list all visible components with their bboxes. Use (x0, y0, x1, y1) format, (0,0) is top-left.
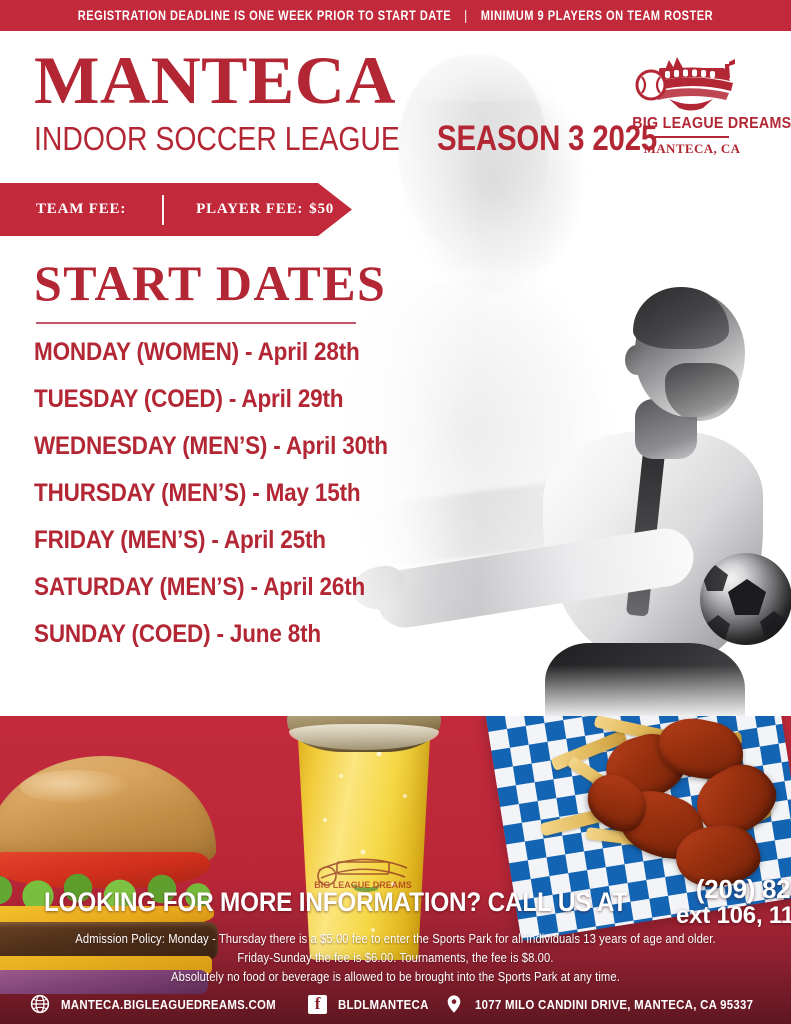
footer-website-text: MANTECA.BIGLEAGUEDREAMS.COM (61, 997, 276, 1012)
page-title: MANTECA (34, 48, 713, 113)
footer-facebook-text: BLDLMANTECA (338, 997, 429, 1012)
cta-label: LOOKING FOR MORE INFORMATION? CALL US AT (44, 887, 627, 918)
footer-address-item[interactable]: 1077 MILO CANDINI DRIVE, MANTECA, CA 953… (444, 994, 791, 1014)
banner-text: REGISTRATION DEADLINE IS ONE WEEK PRIOR … (78, 8, 713, 23)
start-dates-heading: START DATES (34, 258, 414, 308)
season-subtitle: SEASON 3 2025 (437, 119, 657, 159)
date-day-label: MONDAY (WOMEN) - (34, 338, 258, 366)
date-day-label: THURSDAY (MEN’S) - (34, 479, 266, 507)
start-date-row-monday: MONDAY (WOMEN) - April 28th (34, 340, 376, 365)
headline-block: MANTECA INDOOR SOCCER LEAGUE SEASON 3 20… (34, 48, 699, 159)
footer-website-item[interactable]: MANTECA.BIGLEAGUEDREAMS.COM (30, 994, 305, 1014)
date-value: May 15th (266, 479, 361, 507)
footer-facebook-item[interactable]: BLDLMANTECA (308, 995, 441, 1014)
phone-extensions: ext 106, 112, or 105 (676, 902, 791, 929)
banner-left-text: REGISTRATION DEADLINE IS ONE WEEK PRIOR … (78, 8, 451, 23)
start-date-row-friday: FRIDAY (MEN’S) - April 25th (34, 528, 376, 553)
team-fee-label: TEAM FEE: (36, 201, 126, 218)
fee-bar: TEAM FEE: PLAYER FEE: $50 (0, 183, 352, 236)
start-dates-section: START DATES MONDAY (WOMEN) - April 28th … (34, 258, 414, 669)
logo-divider (655, 136, 729, 138)
date-day-label: SUNDAY (COED) - (34, 620, 230, 648)
footer-address-text: 1077 MILO CANDINI DRIVE, MANTECA, CA 953… (475, 997, 753, 1012)
phone-number[interactable]: (209) 824-2400 (696, 874, 791, 904)
registration-banner: REGISTRATION DEADLINE IS ONE WEEK PRIOR … (0, 0, 791, 31)
date-day-label: WEDNESDAY (MEN’S) - (34, 432, 286, 460)
banner-right-text: MINIMUM 9 PLAYERS ON TEAM ROSTER (481, 8, 713, 23)
date-value: April 28th (258, 338, 360, 366)
logo-name: BIG LEAGUE DREAMS (632, 115, 752, 133)
soccer-player-figure (515, 291, 791, 721)
start-date-row-wednesday: WEDNESDAY (MEN’S) - April 30th (34, 434, 376, 459)
date-value: April 26th (263, 573, 365, 601)
cta-phone-block: (209) 824-2400 ext 106, 112, or 105 (676, 876, 791, 928)
policy-line-2: Friday-Sunday the fee is $6.00. Tourname… (40, 949, 752, 968)
date-value: April 29th (241, 385, 343, 413)
admission-policy: Admission Policy: Monday - Thursday ther… (0, 930, 791, 987)
flyer-page: REGISTRATION DEADLINE IS ONE WEEK PRIOR … (0, 0, 791, 1024)
globe-icon (30, 994, 50, 1014)
date-value: June 8th (230, 620, 321, 648)
start-date-row-sunday: SUNDAY (COED) - June 8th (34, 622, 376, 647)
date-day-label: SATURDAY (MEN’S) - (34, 573, 263, 601)
player-beard (665, 363, 739, 421)
stadium-baseball-icon (629, 52, 755, 112)
bun-highlight (20, 770, 130, 804)
start-date-row-tuesday: TUESDAY (COED) - April 29th (34, 387, 376, 412)
soccer-ball-icon (700, 553, 791, 645)
big-league-dreams-logo: BIG LEAGUE DREAMS MANTECA, CA (627, 52, 757, 157)
facebook-icon (308, 995, 327, 1014)
league-subtitle: INDOOR SOCCER LEAGUE (34, 120, 400, 158)
player-fee-label: PLAYER FEE: (196, 201, 303, 218)
player-shorts (545, 643, 745, 721)
location-pin-icon (444, 994, 464, 1014)
fee-divider (162, 195, 164, 225)
date-day-label: FRIDAY (MEN’S) - (34, 526, 224, 554)
date-value: April 30th (286, 432, 388, 460)
policy-line-1: Admission Policy: Monday - Thursday ther… (40, 930, 752, 949)
player-hair (633, 287, 729, 349)
ball-panel (728, 579, 766, 615)
player-fee-value: $50 (309, 201, 334, 218)
burger-bun (0, 756, 216, 866)
date-value: April 25th (224, 526, 326, 554)
subtitle-row: INDOOR SOCCER LEAGUE SEASON 3 2025 (34, 119, 699, 159)
start-date-row-thursday: THURSDAY (MEN’S) - May 15th (34, 481, 376, 506)
player-ear (625, 345, 649, 375)
call-to-action: LOOKING FOR MORE INFORMATION? CALL US AT… (0, 876, 791, 928)
start-dates-divider (36, 322, 356, 324)
footer-contact-bar: MANTECA.BIGLEAGUEDREAMS.COM BLDLMANTECA … (0, 984, 791, 1024)
date-day-label: TUESDAY (COED) - (34, 385, 241, 413)
start-date-row-saturday: SATURDAY (MEN’S) - April 26th (34, 575, 376, 600)
banner-separator: | (451, 8, 481, 23)
logo-city: MANTECA, CA (627, 141, 757, 157)
